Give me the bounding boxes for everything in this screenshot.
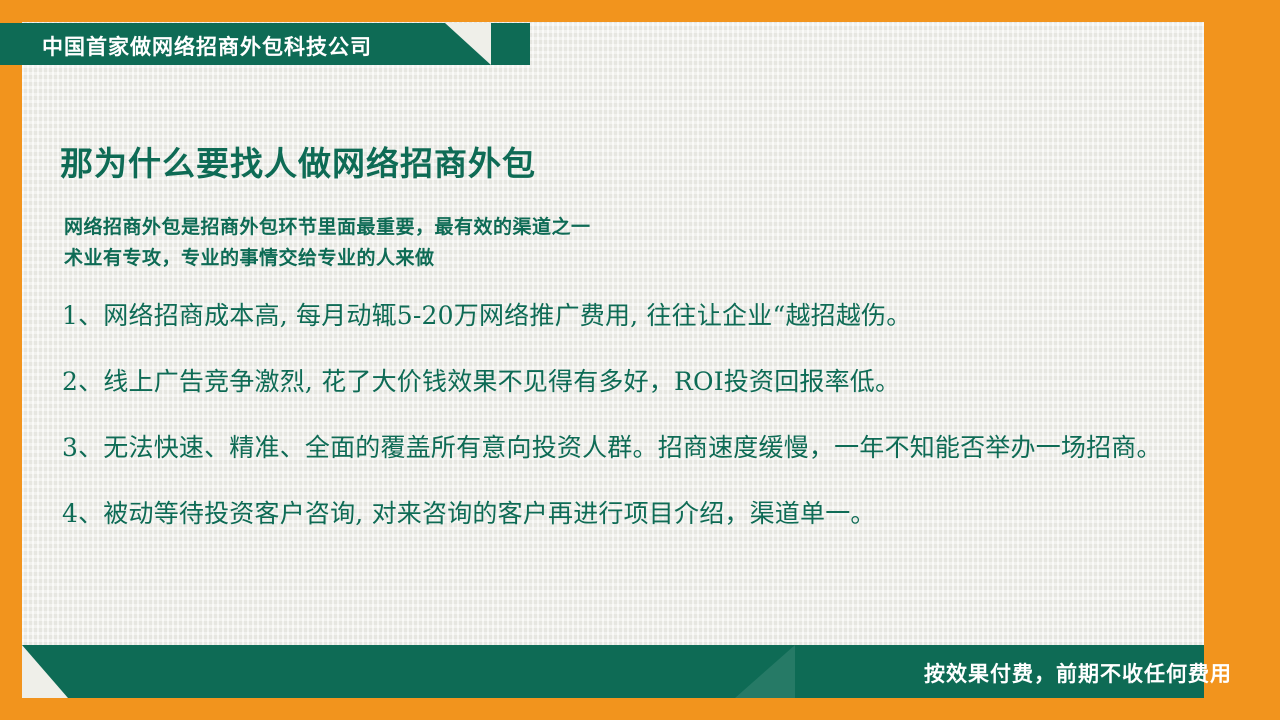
body-list: 1、网络招商成本高, 每月动辄5-20万网络推广费用, 往往让企业“越招越伤。 … (62, 296, 1162, 560)
list-item: 1、网络招商成本高, 每月动辄5-20万网络推广费用, 往往让企业“越招越伤。 (62, 296, 1162, 336)
list-item: 3、无法快速、精准、全面的覆盖所有意向投资人群。招商速度缓慢，一年不知能否举办一… (62, 428, 1162, 468)
bottom-banner-notch-shape (22, 645, 68, 698)
slide-root: 中国首家做网络招商外包科技公司 那为什么要找人做网络招商外包 网络招商外包是招商… (0, 0, 1280, 720)
subheading-line-2: 术业有专攻，专业的事情交给专业的人来做 (64, 243, 435, 270)
page-title: 那为什么要找人做网络招商外包 (60, 137, 536, 185)
subheading-line-1: 网络招商外包是招商外包环节里面最重要，最有效的渠道之一 (64, 212, 591, 239)
list-item: 4、被动等待投资客户咨询, 对来咨询的客户再进行项目介绍，渠道单一。 (62, 494, 1162, 534)
top-banner-notch-shape (445, 23, 491, 65)
top-banner-label: 中国首家做网络招商外包科技公司 (42, 31, 372, 61)
list-item: 2、线上广告竞争激烈, 花了大价钱效果不见得有多好，ROI投资回报率低。 (62, 362, 1162, 402)
bottom-banner-divider-shape (735, 645, 795, 698)
bottom-banner-label: 按效果付费，前期不收任何费用 (924, 658, 1232, 688)
